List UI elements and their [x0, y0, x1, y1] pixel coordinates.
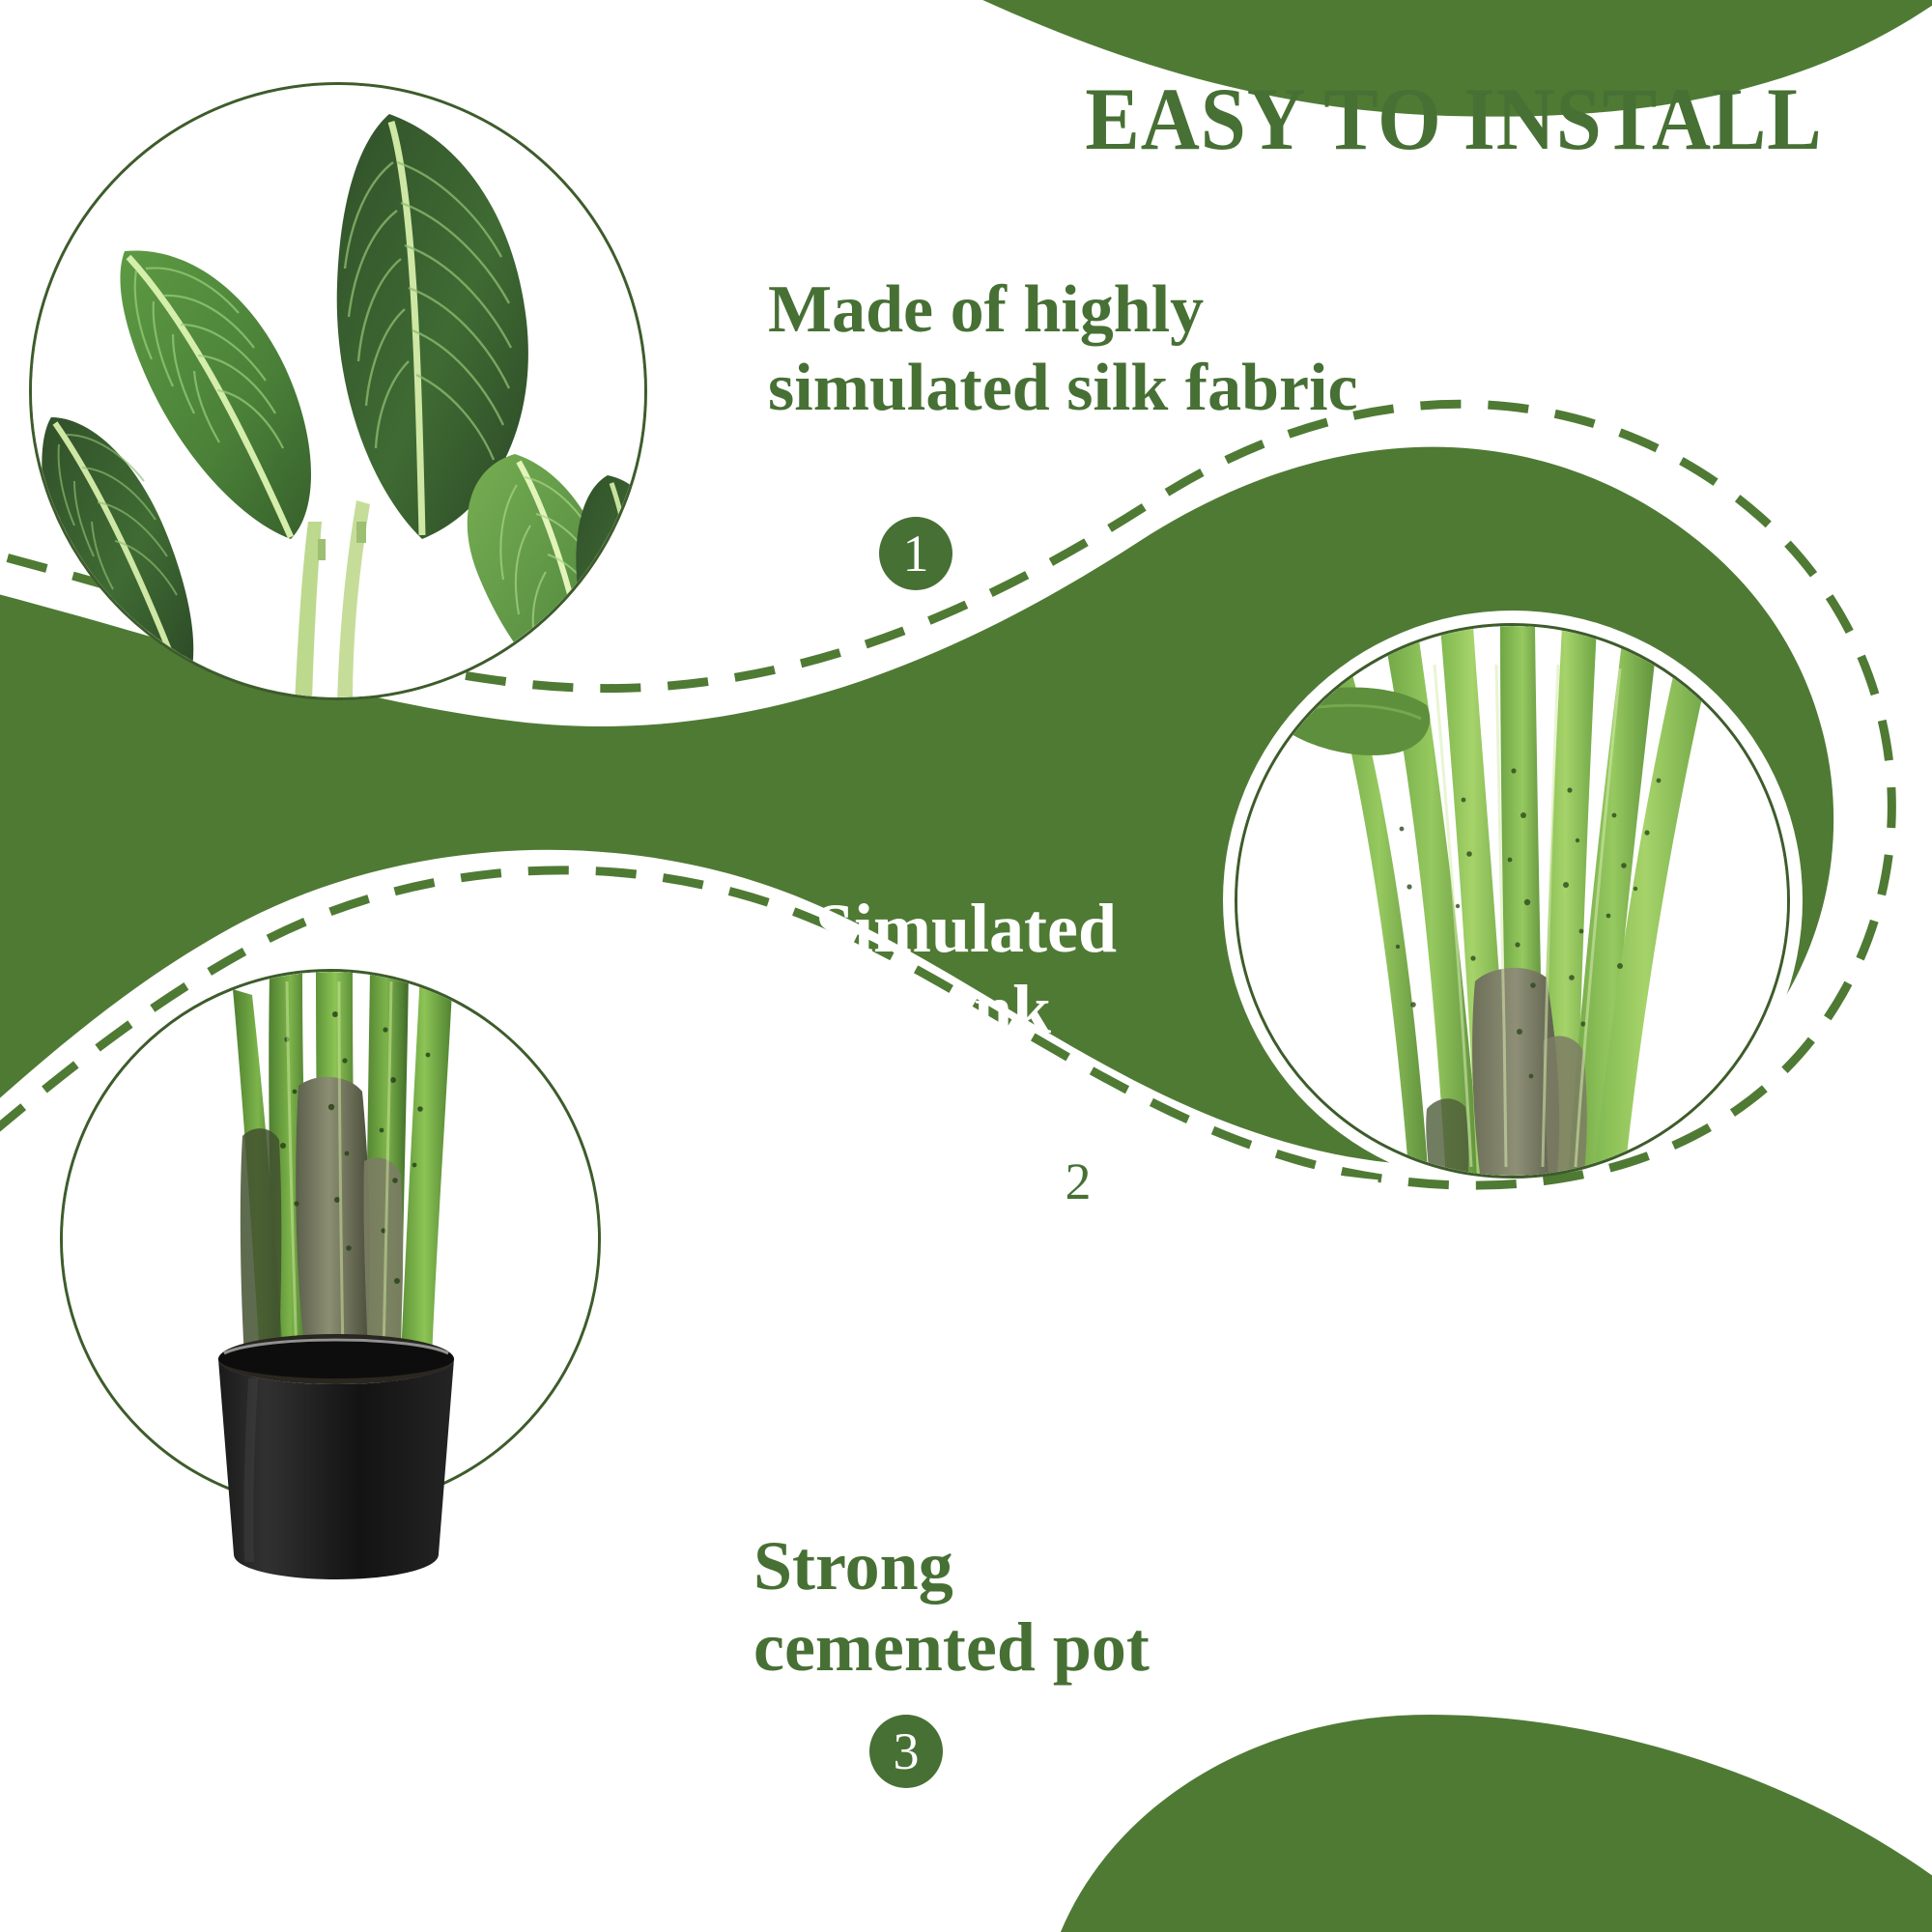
trunk-image-clip: [1237, 626, 1787, 1176]
pot-image-clip: [63, 972, 598, 1507]
pot-closeup-illustration: [63, 972, 598, 1507]
feature-2-line-2: trunk: [734, 970, 1198, 1051]
feature-2-line-1: Simulated: [734, 889, 1198, 970]
photo-circle-leaves: [29, 82, 647, 700]
leaves-image-clip: [32, 85, 644, 697]
feature-3-line-1: Strong: [753, 1526, 1372, 1607]
feature-3-text: Strong cemented pot: [753, 1526, 1372, 1688]
trunk-closeup-illustration: [1237, 626, 1787, 1176]
feature-3-line-2: cemented pot: [753, 1607, 1372, 1689]
feature-2-text: Simulated trunk: [734, 889, 1198, 1050]
step-badge-3: 3: [869, 1715, 943, 1788]
infographic-canvas: EASY TO INSTALL Made of highly simulated…: [0, 0, 1932, 1932]
page-title: EASY TO INSTALL: [1032, 68, 1876, 170]
feature-1-line-1: Made of highly: [768, 270, 1560, 349]
leaves-closeup-illustration: [32, 85, 644, 697]
photo-circle-trunk: [1235, 623, 1790, 1179]
step-badge-1: 1: [879, 517, 952, 590]
feature-1-text: Made of highly simulated silk fabric: [768, 270, 1560, 427]
feature-1-line-2: simulated silk fabric: [768, 349, 1560, 427]
step-badge-2: 2: [1041, 1145, 1115, 1218]
photo-circle-pot: [60, 969, 601, 1510]
green-blob-bottom-right: [1043, 1715, 1932, 1932]
